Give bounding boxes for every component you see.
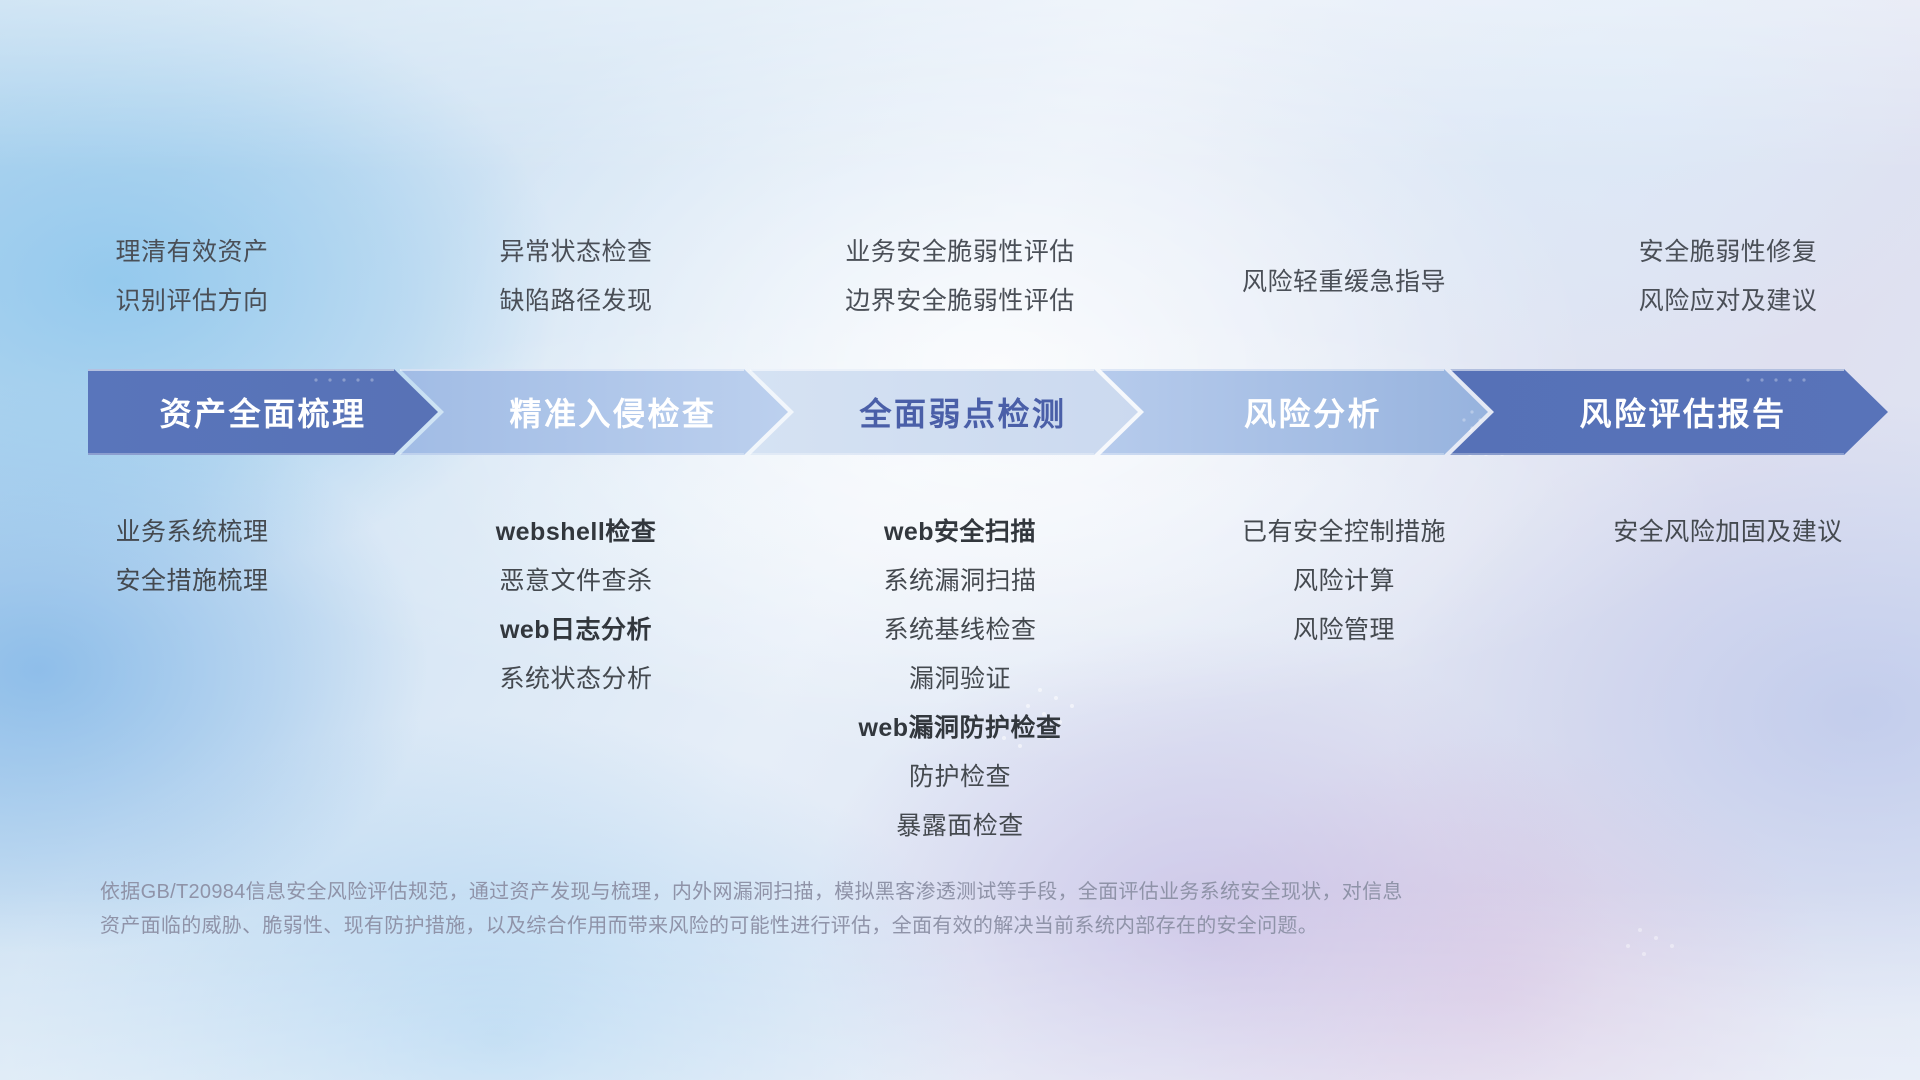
detail-list-weakness-detection: web安全扫描 系统漏洞扫描 系统基线检查 漏洞验证 web漏洞防护检查 防护检…	[768, 508, 1152, 851]
list-item: 风险计算	[1293, 557, 1395, 606]
footer-line-2: 资产面临的威胁、脆弱性、现有防护措施，以及综合作用而带来风险的可能性进行评估，全…	[100, 909, 1740, 943]
caption-text: 风险应对及建议	[1639, 277, 1818, 326]
list-item: web日志分析	[500, 606, 652, 655]
top-caption-row: 理清有效资产 识别评估方向 异常状态检查 缺陷路径发现 业务安全脆弱性评估 边界…	[0, 228, 1920, 348]
top-captions-intrusion-check: 异常状态检查 缺陷路径发现	[384, 228, 768, 348]
detail-list-asset-inventory: 业务系统梳理 安全措施梳理	[0, 508, 384, 606]
caption-text: 风险轻重缓急指导	[1242, 258, 1446, 307]
caption-text: 边界安全脆弱性评估	[845, 277, 1075, 326]
list-item: 防护检查	[909, 753, 1011, 802]
caption-text: 识别评估方向	[115, 277, 268, 326]
top-captions-weakness-detection: 业务安全脆弱性评估 边界安全脆弱性评估	[768, 228, 1152, 348]
list-item: 风险管理	[1293, 606, 1395, 655]
top-captions-risk-analysis: 风险轻重缓急指导	[1152, 228, 1536, 348]
process-arrow-band: 资产全面梳理 精准入侵检查 全面弱点检测 风险分析 风险评估报告	[88, 368, 1888, 456]
list-item: 暴露面检查	[896, 802, 1024, 851]
caption-text: 缺陷路径发现	[499, 277, 652, 326]
list-item: 漏洞验证	[909, 655, 1011, 704]
bottom-detail-row: 业务系统梳理 安全措施梳理 webshell检查 恶意文件查杀 web日志分析 …	[0, 508, 1920, 868]
top-captions-assessment-report: 安全脆弱性修复 风险应对及建议	[1536, 228, 1920, 348]
caption-text: 安全脆弱性修复	[1639, 228, 1818, 277]
list-item: 系统漏洞扫描	[883, 557, 1036, 606]
caption-text: 异常状态检查	[499, 228, 652, 277]
list-item: 系统状态分析	[499, 655, 652, 704]
list-item: 已有安全控制措施	[1242, 508, 1446, 557]
caption-text: 理清有效资产	[115, 228, 268, 277]
list-item: 恶意文件查杀	[499, 557, 652, 606]
list-item: 安全措施梳理	[115, 557, 268, 606]
footer-line-1: 依据GB/T20984信息安全风险评估规范，通过资产发现与梳理，内外网漏洞扫描，…	[100, 875, 1740, 909]
footer-description: 依据GB/T20984信息安全风险评估规范，通过资产发现与梳理，内外网漏洞扫描，…	[100, 875, 1740, 943]
list-item: 系统基线检查	[883, 606, 1036, 655]
list-item: 业务系统梳理	[115, 508, 268, 557]
caption-text: 业务安全脆弱性评估	[845, 228, 1075, 277]
list-item: web安全扫描	[884, 508, 1036, 557]
list-item: 安全风险加固及建议	[1613, 508, 1843, 557]
list-item: web漏洞防护检查	[858, 704, 1061, 753]
slide-canvas: 理清有效资产 识别评估方向 异常状态检查 缺陷路径发现 业务安全脆弱性评估 边界…	[0, 0, 1920, 1080]
list-item: webshell检查	[496, 508, 657, 557]
detail-list-intrusion-check: webshell检查 恶意文件查杀 web日志分析 系统状态分析	[384, 508, 768, 704]
detail-list-risk-analysis: 已有安全控制措施 风险计算 风险管理	[1152, 508, 1536, 655]
top-captions-asset-inventory: 理清有效资产 识别评估方向	[0, 228, 384, 348]
detail-list-assessment-report: 安全风险加固及建议	[1536, 508, 1920, 557]
